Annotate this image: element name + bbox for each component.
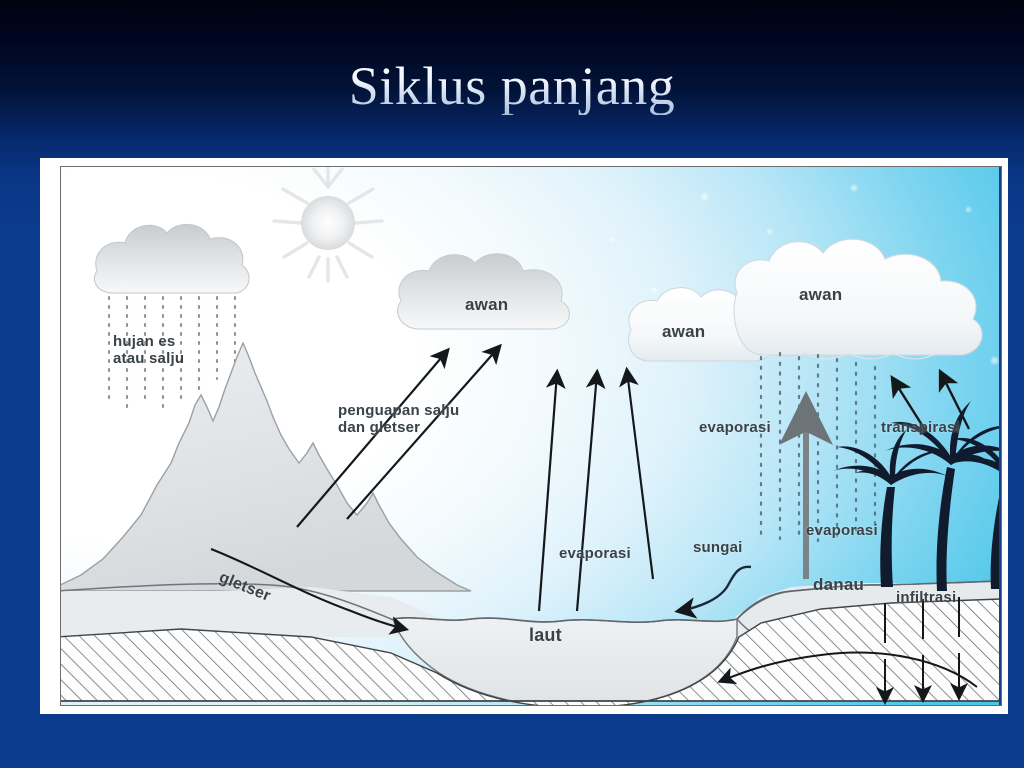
page-title: Siklus panjang (0, 58, 1024, 115)
label-danau: danau (813, 575, 864, 595)
mountain-range (61, 343, 471, 591)
label-awan-2: awan (662, 322, 705, 342)
label-penguapan-salju: penguapan salju dan gletser (338, 402, 459, 437)
label-transpirasi: transpirasi (881, 419, 960, 436)
label-infiltrasi: infiltrasi (896, 589, 956, 606)
evaporasi-laut-arrows (539, 371, 653, 611)
sungai-arrow (679, 567, 751, 611)
cloud-awan-1 (398, 254, 570, 329)
label-laut: laut (529, 625, 562, 646)
label-sungai: sungai (693, 539, 743, 556)
label-evaporasi-laut: evaporasi (559, 545, 631, 562)
precipitation-rain-lines (761, 353, 875, 541)
diagram-picture-frame[interactable]: hujan es atau salju awan penguapan salju… (40, 158, 1008, 714)
label-evaporasi-danau: evaporasi (806, 522, 878, 539)
label-awan-3: awan (799, 285, 842, 305)
cloud-hail (94, 224, 249, 293)
sun-icon (274, 167, 382, 281)
label-evaporasi-cloud: evaporasi (699, 419, 771, 436)
cloud-awan-3 (734, 239, 982, 359)
water-cycle-diagram[interactable]: hujan es atau salju awan penguapan salju… (60, 166, 1002, 706)
label-hujan-es: hujan es atau salju (113, 333, 184, 368)
slide: Siklus panjang (0, 0, 1024, 768)
label-awan-1: awan (465, 295, 508, 315)
